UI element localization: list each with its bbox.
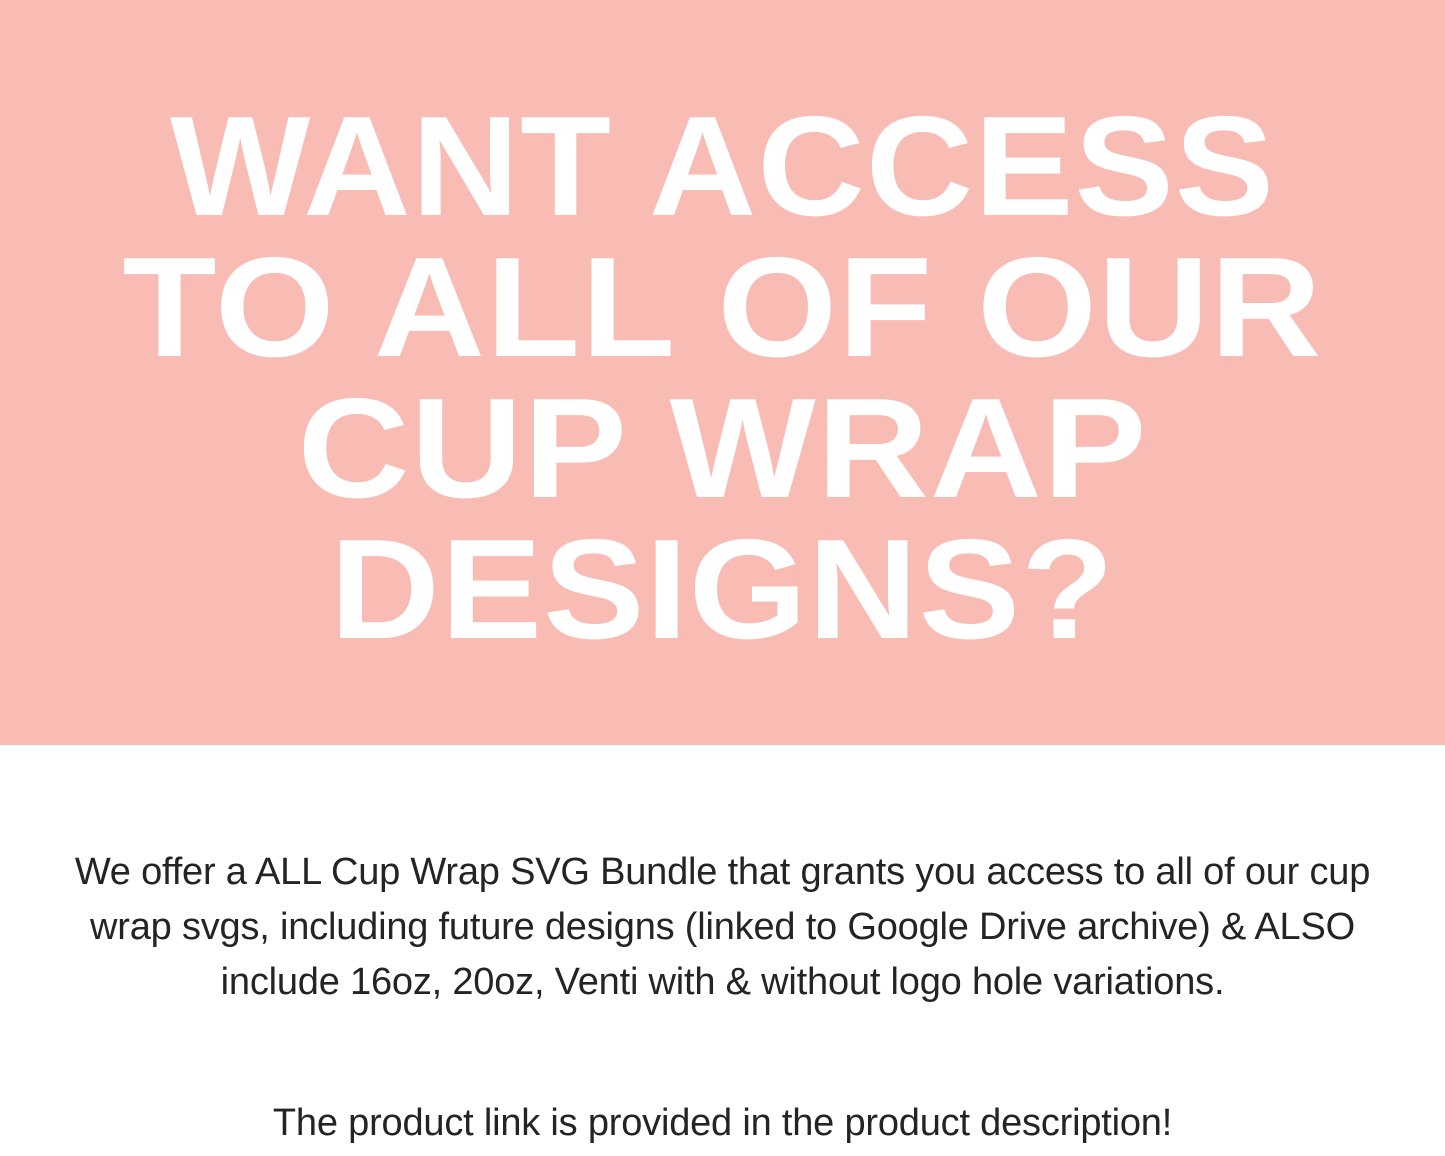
headline-line-3: CUP WRAP: [0, 378, 1445, 519]
headline-line-4: DESIGNS?: [0, 519, 1445, 660]
promo-card: WANT ACCESS TO ALL OF OUR CUP WRAP DESIG…: [0, 0, 1445, 1156]
hero-headline: WANT ACCESS TO ALL OF OUR CUP WRAP DESIG…: [0, 96, 1445, 660]
description-paragraph: We offer a ALL Cup Wrap SVG Bundle that …: [73, 845, 1373, 1010]
hero-banner: WANT ACCESS TO ALL OF OUR CUP WRAP DESIG…: [0, 0, 1445, 745]
headline-line-1: WANT ACCESS: [0, 96, 1445, 237]
headline-line-2: TO ALL OF OUR: [0, 237, 1445, 378]
product-link-note: The product link is provided in the prod…: [73, 1096, 1373, 1151]
body-area: We offer a ALL Cup Wrap SVG Bundle that …: [0, 745, 1445, 1156]
